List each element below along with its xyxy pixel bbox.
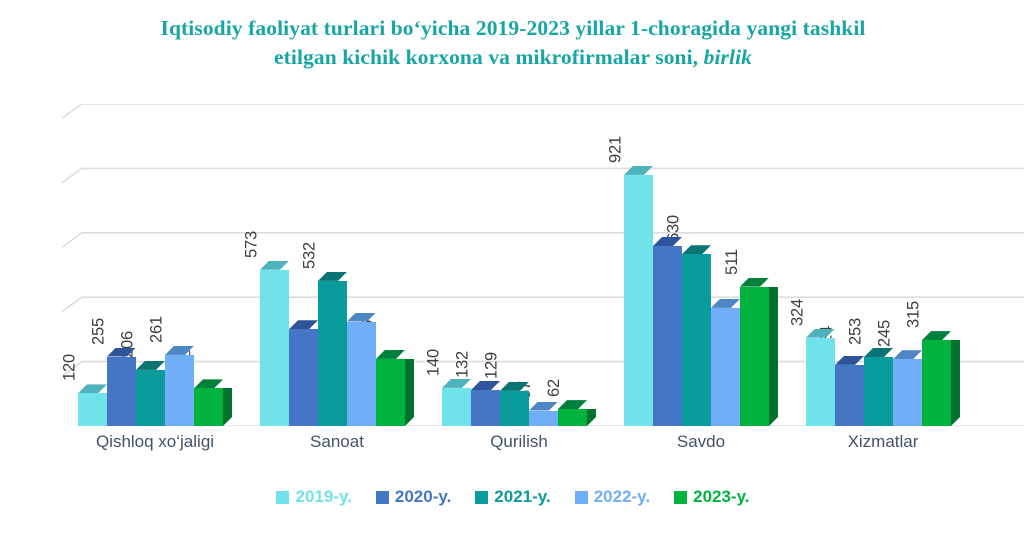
bar-value-label: 532 (300, 242, 319, 269)
bar-value-label: 140 (424, 349, 443, 376)
bar-front-face (558, 409, 587, 426)
bar-top-face (922, 331, 951, 340)
legend-item-2019[interactable]: 2019-y. (276, 487, 351, 507)
bar-2022-xizmatlar[interactable]: 245 (893, 359, 922, 426)
bar-top-face (864, 348, 893, 357)
bar-2021-sanoat[interactable]: 532 (318, 281, 347, 426)
bar-top-face (624, 166, 653, 175)
bar-side-face (951, 340, 960, 426)
bar-group: 1401321295762 (442, 104, 596, 426)
bar-top-face (289, 320, 318, 329)
bar-top-face (78, 384, 107, 393)
bar-2020-sanoat[interactable]: 355 (289, 329, 318, 426)
bar-front-face (922, 340, 951, 426)
legend-item-2022[interactable]: 2022-y. (575, 487, 650, 507)
bar-2023-sanoat[interactable]: 246 (376, 359, 405, 426)
bar-value-label: 245 (875, 320, 894, 347)
bar-value-label: 511 (723, 249, 742, 275)
bar-top-face (471, 381, 500, 390)
legend-swatch-icon (674, 491, 687, 504)
chart-title-line1: Iqtisodiy faoliyat turlari bo‘yicha 2019… (161, 16, 866, 40)
bar-group: 120255206261138 (78, 104, 232, 426)
bar-side-face (587, 409, 596, 426)
bar-2019-qurilish[interactable]: 140 (442, 388, 471, 426)
bar-value-label: 573 (242, 231, 261, 258)
legend-item-2020[interactable]: 2020-y. (376, 487, 451, 507)
bar-front-face (653, 246, 682, 426)
bar-front-face (78, 393, 107, 426)
plot-area: 1202552062611385733555323832461401321295… (62, 104, 1024, 426)
bar-front-face (194, 388, 223, 426)
bar-front-face (893, 359, 922, 426)
bar-top-face (194, 379, 223, 388)
bar-group: 573355532383246 (260, 104, 414, 426)
bar-top-face (318, 272, 347, 281)
bar-2021-savdo[interactable]: 630 (682, 254, 711, 426)
legend-item-2023[interactable]: 2023-y. (674, 487, 749, 507)
bar-side-face (405, 359, 414, 426)
bar-side-face (223, 388, 232, 426)
legend-item-2021[interactable]: 2021-y. (475, 487, 550, 507)
bars-layer: 1202552062611385733555323832461401321295… (62, 104, 1024, 426)
bar-value-label: 315 (904, 301, 923, 328)
bar-value-label: 324 (788, 299, 807, 326)
bar-2022-qishloqxojaligi[interactable]: 261 (165, 355, 194, 426)
bar-value-label: 120 (60, 354, 79, 381)
legend-swatch-icon (376, 491, 389, 504)
bar-2019-xizmatlar[interactable]: 324 (806, 338, 835, 426)
bar-front-face (624, 175, 653, 426)
bar-top-face (711, 299, 740, 308)
bar-front-face (165, 355, 194, 426)
bar-2020-qishloqxojaligi[interactable]: 255 (107, 357, 136, 427)
bar-2020-qurilish[interactable]: 132 (471, 390, 500, 426)
bar-2022-sanoat[interactable]: 383 (347, 322, 376, 427)
bar-group: 921660630433511 (624, 104, 778, 426)
bar-top-face (740, 278, 769, 287)
bar-value-label: 129 (482, 352, 501, 379)
bar-value-label: 132 (453, 351, 472, 378)
bar-front-face (376, 359, 405, 426)
bar-2023-qurilish[interactable]: 62 (558, 409, 587, 426)
bar-value-label: 253 (846, 318, 865, 345)
bar-value-label: 921 (606, 136, 625, 163)
bar-2022-qurilish[interactable]: 57 (529, 411, 558, 427)
bar-front-face (107, 357, 136, 427)
bar-2019-savdo[interactable]: 921 (624, 175, 653, 426)
bar-top-face (376, 350, 405, 359)
bar-2021-qurilish[interactable]: 129 (500, 391, 529, 426)
bar-side-face (769, 287, 778, 426)
bar-2023-qishloqxojaligi[interactable]: 138 (194, 388, 223, 426)
bar-front-face (347, 322, 376, 427)
bar-front-face (529, 411, 558, 427)
legend: 2019-y.2020-y.2021-y.2022-y.2023-y. (0, 487, 1026, 507)
bar-top-face (442, 379, 471, 388)
bar-front-face (835, 365, 864, 426)
chart-title-line2: etilgan kichik korxona va mikrofirmalar … (274, 45, 704, 69)
bar-top-face (558, 400, 587, 409)
bar-2019-sanoat[interactable]: 573 (260, 270, 289, 426)
bar-front-face (500, 391, 529, 426)
bar-2020-savdo[interactable]: 660 (653, 246, 682, 426)
legend-label: 2020-y. (395, 487, 451, 507)
category-axis: Qishloq xo‘jaligiSanoatQurilishSavdoXizm… (62, 432, 1024, 462)
legend-label: 2023-y. (693, 487, 749, 507)
bar-value-label: 261 (147, 316, 166, 343)
bar-2021-xizmatlar[interactable]: 253 (864, 357, 893, 426)
bar-2023-xizmatlar[interactable]: 315 (922, 340, 951, 426)
legend-label: 2022-y. (594, 487, 650, 507)
bar-2021-qishloqxojaligi[interactable]: 206 (136, 370, 165, 426)
bar-top-face (835, 356, 864, 365)
bar-front-face (740, 287, 769, 426)
bar-front-face (260, 270, 289, 426)
bar-front-face (471, 390, 500, 426)
bar-2020-xizmatlar[interactable]: 224 (835, 365, 864, 426)
legend-label: 2019-y. (295, 487, 351, 507)
chart-page: Iqtisodiy faoliyat turlari bo‘yicha 2019… (0, 0, 1026, 537)
bar-front-face (136, 370, 165, 426)
category-label-xizmatlar: Xizmatlar (766, 432, 1000, 452)
bar-2019-qishloqxojaligi[interactable]: 120 (78, 393, 107, 426)
bar-top-face (682, 245, 711, 254)
bar-2022-savdo[interactable]: 433 (711, 308, 740, 426)
bar-top-face (893, 350, 922, 359)
bar-2023-savdo[interactable]: 511 (740, 287, 769, 426)
bar-top-face (260, 261, 289, 270)
legend-swatch-icon (575, 491, 588, 504)
legend-swatch-icon (276, 491, 289, 504)
chart-title-unit: birlik (704, 45, 752, 69)
legend-label: 2021-y. (494, 487, 550, 507)
bar-front-face (806, 338, 835, 426)
bar-front-face (682, 254, 711, 426)
bar-value-label: 255 (89, 318, 108, 345)
bar-top-face (529, 402, 558, 411)
bar-front-face (442, 388, 471, 426)
bar-front-face (864, 357, 893, 426)
bar-top-face (136, 361, 165, 370)
bar-front-face (711, 308, 740, 426)
legend-swatch-icon (475, 491, 488, 504)
bar-front-face (289, 329, 318, 426)
bar-group: 324224253245315 (806, 104, 960, 426)
bar-front-face (318, 281, 347, 426)
bar-value-label: 62 (545, 379, 564, 397)
page-title: Iqtisodiy faoliyat turlari bo‘yicha 2019… (40, 14, 986, 72)
